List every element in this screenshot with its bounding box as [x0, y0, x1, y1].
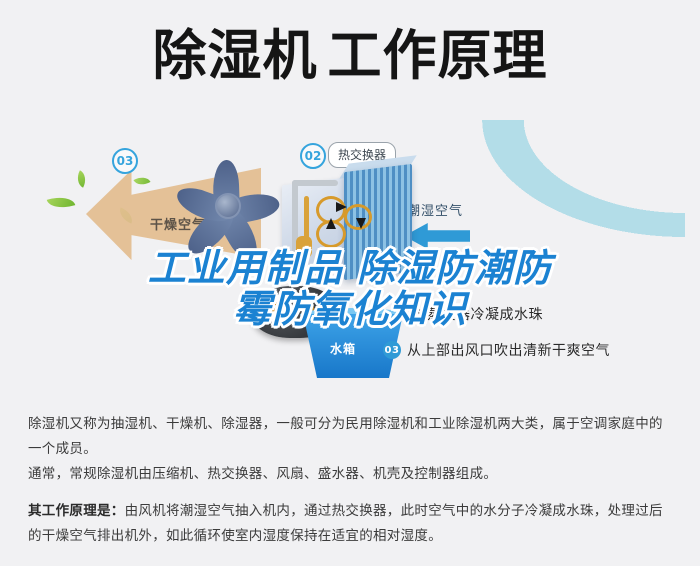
- diagram-badge-03: 03: [112, 148, 138, 174]
- coil-receiver: [296, 236, 312, 258]
- leaf-icon: [73, 170, 89, 188]
- flow-arrow-down-icon: [356, 218, 366, 229]
- fan-hub: [215, 193, 241, 219]
- paragraph-1-line-2: 通常，常规除湿机由压缩机、热交换器、风扇、盛水器、机壳及控制器组成。: [28, 466, 497, 482]
- coil-pipe: [292, 180, 338, 186]
- fan-icon: [175, 156, 293, 264]
- paragraph-1: 除湿机又称为抽湿机、干燥机、除湿器，一般可分为民用除湿机和工业除湿机两大类，属于…: [28, 412, 676, 487]
- humid-air-label: 潮湿空气: [407, 200, 463, 219]
- dehumidifier-diagram: 03 干燥空气 01 潮湿空气 02 热交换器: [0, 118, 700, 398]
- step-02-text: 经过蒸发器冷凝成水珠: [398, 304, 543, 324]
- body-copy: 除湿机又称为抽湿机、干燥机、除湿器，一般可分为民用除湿机和工业除湿机两大类，属于…: [28, 412, 676, 561]
- step-03-text: 从上部出风口吹出清新干爽空气: [407, 340, 610, 360]
- paragraph-2-lead: 其工作原理是：: [28, 503, 125, 519]
- leaf-icon: [133, 173, 150, 189]
- water-tank-label: 水箱: [330, 340, 356, 357]
- flow-arrow-up-icon: [326, 218, 336, 229]
- diagram-badge-02: 02: [300, 143, 326, 169]
- leaf-icon: [47, 193, 76, 213]
- flow-arrow-right-icon: [336, 202, 347, 212]
- page-title: 除湿机工作原理: [0, 26, 700, 86]
- step-03-row: 03 从上部出风口吹出清新干爽空气: [383, 340, 610, 360]
- step-03-badge: 03: [383, 341, 401, 359]
- page-title-part2: 工作原理: [328, 24, 548, 87]
- infographic-page: 除湿机工作原理 03 干燥空气 01 潮湿空气 02 热交换器: [0, 0, 700, 566]
- paragraph-1-line-1: 除湿机又称为抽湿机、干燥机、除湿器，一般可分为民用除湿机和工业除湿机两大类，属于…: [28, 416, 663, 457]
- paragraph-2: 其工作原理是：由风机将潮湿空气抽入机内，通过热交换器，此时空气中的水分子冷凝成水…: [28, 499, 676, 549]
- page-title-part1: 除湿机: [153, 24, 318, 87]
